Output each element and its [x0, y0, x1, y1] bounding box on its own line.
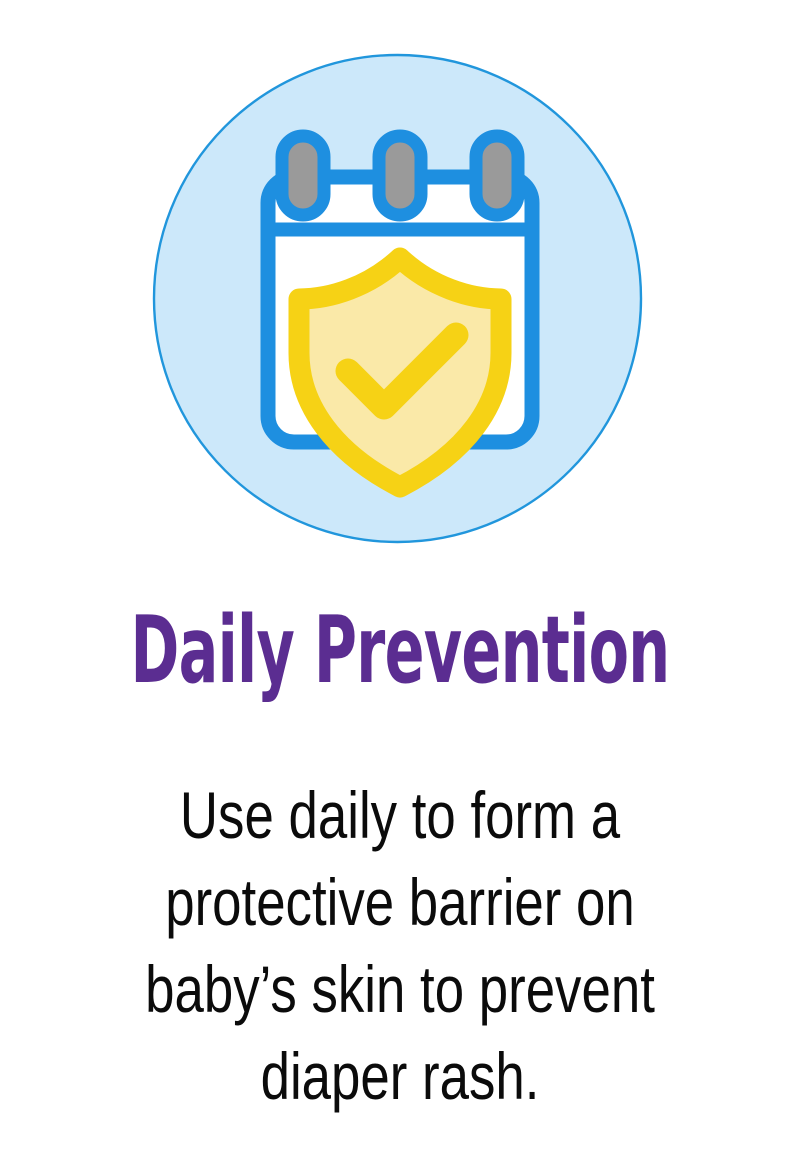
page-title: Daily Prevention [131, 604, 670, 696]
description-line-1: Use daily to form a [80, 772, 720, 859]
calendar-ring-2 [379, 136, 421, 215]
description-container: Use daily to form a protective barrier o… [0, 772, 800, 1120]
calendar-ring-1 [282, 136, 324, 215]
calendar-shield-icon [152, 53, 643, 544]
description-line-3: baby’s skin to prevent [80, 946, 720, 1033]
title-container: Daily Prevention [0, 604, 800, 688]
description-line-4: diaper rash. [80, 1033, 720, 1120]
calendar-ring-3 [476, 136, 518, 215]
description-line-2: protective barrier on [80, 859, 720, 946]
feature-card: Daily Prevention Use daily to form a pro… [0, 0, 800, 1171]
